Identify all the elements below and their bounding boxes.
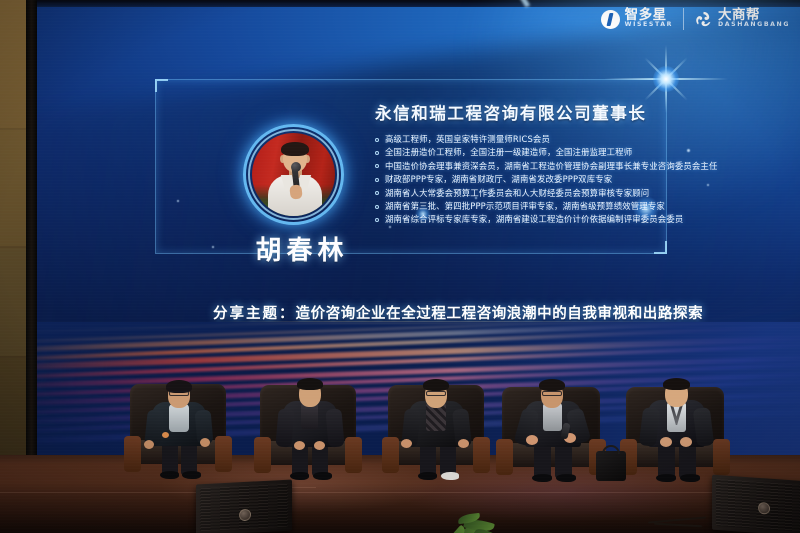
- list-item-text: 财政部PPP专家，湖南省财政厅、湖南省发改委PPP双库专家: [385, 174, 612, 184]
- panelist-4: [512, 379, 598, 483]
- bullet-dot-icon: [375, 164, 379, 168]
- glasses-icon: [542, 391, 562, 396]
- speaker-portrait: [243, 124, 344, 225]
- left-wall-shading: [0, 0, 26, 472]
- list-item: 全国注册造价工程师，全国注册一级建造师，全国注册监理工程师: [375, 147, 721, 158]
- list-item: 中国造价协会理事兼资深会员，湖南省工程造价管理协会副理事长兼专业咨询委员会主任: [375, 161, 721, 172]
- list-item-text: 高级工程师，英国皇家特许测量师RICS会员: [385, 134, 550, 144]
- glasses-icon: [426, 391, 446, 396]
- bullet-dot-icon: [375, 205, 379, 209]
- black-bag: [596, 451, 626, 481]
- bullet-dot-icon: [375, 138, 379, 142]
- list-item-text: 湖南省人大常委会预算工作委员会和人大财经委员会预算审核专家顾问: [385, 188, 649, 198]
- list-item: 高级工程师，英国皇家特许测量师RICS会员: [375, 134, 721, 145]
- panelist-3: [396, 379, 482, 481]
- brand-dashangbang: 大商帮 DASHANGBANG: [694, 9, 790, 29]
- theme-text: 造价咨询企业在全过程工程咨询浪潮中的自我审视和出路探索: [296, 305, 704, 322]
- potted-plant: [430, 489, 520, 533]
- portrait-ring: [243, 124, 344, 225]
- list-item: 湖南省综合评标专家库专家，湖南省建设工程造价计价依据编制评审委员会委员: [375, 214, 721, 225]
- sparkle-dot: [177, 200, 179, 202]
- glasses-icon: [169, 391, 189, 396]
- stage-monitor-right: [712, 475, 800, 533]
- bullet-dot-icon: [375, 178, 379, 182]
- led-screen-bezel: [26, 0, 37, 472]
- floor-seam: [0, 492, 800, 493]
- brand-bar: 智多星 WISESTAR 大商帮 DAS: [601, 8, 790, 30]
- list-item: 财政部PPP专家，湖南省财政厅、湖南省发改委PPP双库专家: [375, 174, 721, 185]
- brand-dashangbang-en: DASHANGBANG: [718, 21, 790, 29]
- list-item-text: 湖南省第三批、第四批PPP示范项目评审专家，湖南省级预算绩效管理专家: [385, 201, 665, 211]
- theme-label: 分享主题：: [213, 305, 296, 322]
- floor-seam: [290, 487, 316, 488]
- panelist-5: [636, 379, 722, 483]
- speaker-name: 胡春林: [237, 230, 367, 267]
- brand-wisestar-cn: 智多星: [625, 9, 673, 21]
- bullet-dot-icon: [375, 151, 379, 155]
- sparkle-dot: [212, 246, 214, 248]
- brand-dashangbang-cn: 大商帮: [718, 9, 790, 21]
- frame-corner-icon: [654, 241, 667, 254]
- dashangbang-pinwheel-icon: [694, 10, 713, 29]
- stage-monitor-left: [196, 479, 292, 533]
- panelist-2: [272, 379, 356, 481]
- speaker-badge-icon: [758, 502, 770, 515]
- credentials-list: 高级工程师，英国皇家特许测量师RICS会员 全国注册造价工程师，全国注册一级建造…: [375, 134, 721, 228]
- brand-wisestar-en: WISESTAR: [625, 21, 673, 29]
- list-item-text: 湖南省综合评标专家库专家，湖南省建设工程造价计价依据编制评审委员会委员: [385, 214, 683, 224]
- panelist-1: [140, 378, 224, 480]
- list-item: 湖南省第三批、第四批PPP示范项目评审专家，湖南省级预算绩效管理专家: [375, 201, 721, 212]
- brand-wisestar: 智多星 WISESTAR: [601, 9, 673, 29]
- bullet-dot-icon: [375, 218, 379, 222]
- bullet-dot-icon: [375, 191, 379, 195]
- wisestar-logo-icon: [601, 10, 620, 29]
- list-item-text: 全国注册造价工程师，全国注册一级建造师，全国注册监理工程师: [385, 147, 632, 157]
- theme-line: 分享主题：造价咨询企业在全过程工程咨询浪潮中的自我审视和出路探索: [213, 302, 703, 323]
- slide-headline: 永信和瑞工程咨询有限公司董事长: [375, 100, 647, 124]
- list-item-text: 中国造价协会理事兼资深会员，湖南省工程造价管理协会副理事长兼专业咨询委员会主任: [385, 161, 717, 171]
- brand-divider: [683, 8, 684, 30]
- conference-scene: 智多星 WISESTAR 大商帮 DAS: [0, 0, 800, 533]
- frame-corner-icon: [155, 79, 168, 92]
- list-item: 湖南省人大常委会预算工作委员会和人大财经委员会预算审核专家顾问: [375, 188, 721, 199]
